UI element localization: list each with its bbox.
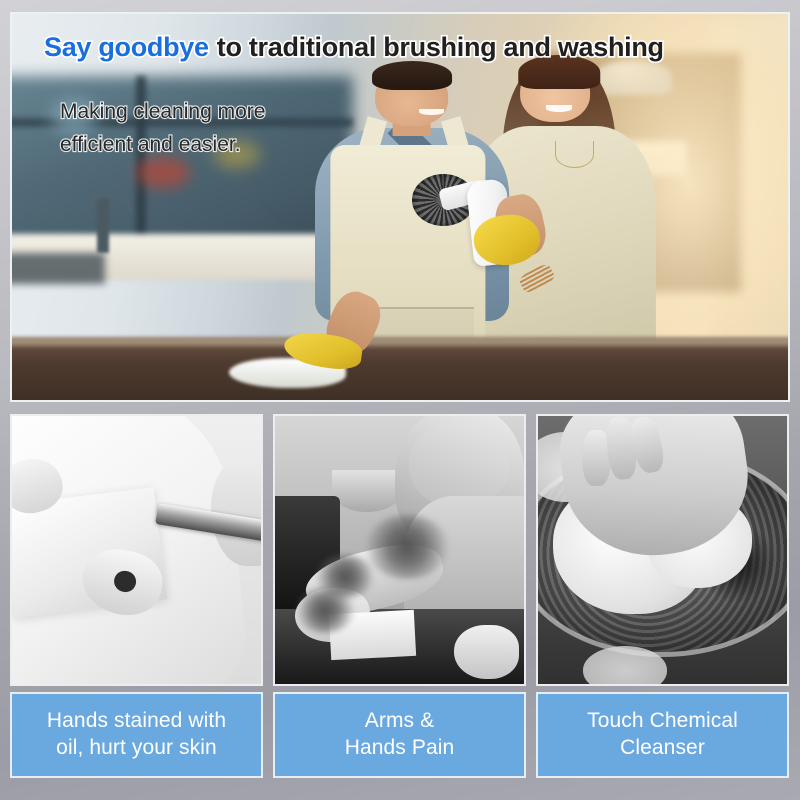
headline-rest: to traditional brushing and washing [217, 32, 664, 62]
pain-marker-hand [295, 588, 355, 634]
sink-basin [12, 253, 105, 284]
hero-subheadline: Making cleaning more efficient and easie… [60, 96, 265, 161]
window-blur-red [136, 157, 190, 188]
photo2-second-hand [454, 625, 519, 679]
man-hair [372, 61, 452, 90]
woman-smile [546, 105, 572, 112]
pain-point-card-arms-hands-pain: Arms & Hands Pain [273, 414, 526, 778]
card-caption-touch-chemical-cleanser: Touch Chemical Cleanser [536, 692, 789, 778]
man-smile [419, 109, 444, 115]
pain-point-card-touch-chemical-cleanser: Touch Chemical Cleanser [536, 414, 789, 778]
photo3-foam-bottom [583, 646, 668, 686]
card-photo-arms-hands-pain [273, 414, 526, 686]
photo2-woman-head [409, 421, 509, 507]
faucet [97, 199, 109, 253]
card-photo-hands-stained [10, 414, 263, 686]
card-photo-touch-chemical-cleanser [536, 414, 789, 686]
hero-banner: Say goodbyeto traditional brushing and w… [10, 12, 790, 402]
headline-highlight: Say goodbye [44, 32, 209, 62]
card-caption-hands-stained: Hands stained with oil, hurt your skin [10, 692, 263, 778]
card-caption-arms-hands-pain: Arms & Hands Pain [273, 692, 526, 778]
hero-headline: Say goodbyeto traditional brushing and w… [44, 32, 664, 63]
hero-photo [12, 14, 788, 400]
front-countertop [12, 338, 788, 400]
counter-edge [12, 338, 788, 346]
pain-point-card-hands-stained: Hands stained with oil, hurt your skin [10, 414, 263, 778]
